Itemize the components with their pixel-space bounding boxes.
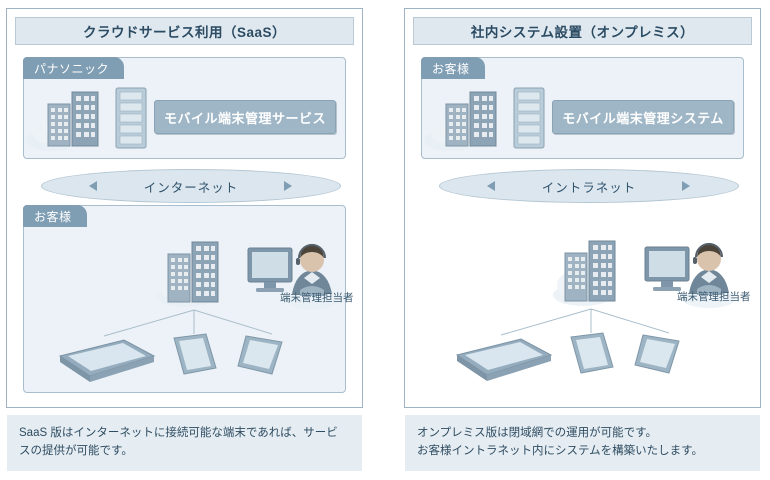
building-icon <box>168 254 190 302</box>
group-customer-onpremise-label: お客様 <box>432 60 470 77</box>
building-icon <box>446 104 468 146</box>
arrow-left-icon <box>487 181 495 191</box>
onpremise-service-bar: モバイル端末管理システム <box>552 100 734 134</box>
group-customer-saas: お客様 <box>23 205 346 393</box>
group-panasonic-label: パナソニック <box>34 60 109 77</box>
building-icon <box>48 104 70 146</box>
note-saas-line-2: スの提供が可能です。 <box>19 442 350 460</box>
tablet-device-icon <box>60 340 154 382</box>
arrow-right-icon <box>284 181 292 191</box>
note-onpremise: オンプレミス版は閉域網での運用が可能です。 お客様イントラネット内にシステムを構… <box>404 414 761 472</box>
panel-saas-header: クラウドサービス利用（SaaS） <box>15 17 354 45</box>
desktop-monitor-icon <box>248 248 292 292</box>
onpremise-service-bar-label: モバイル端末管理システム <box>562 108 724 127</box>
panel-saas: クラウドサービス利用（SaaS） パナソニック <box>6 8 363 408</box>
building-icon <box>192 242 218 302</box>
smartphone-device-icon <box>174 334 216 374</box>
onpremise-operator-caption: 端末管理担当者 <box>677 289 751 304</box>
saas-service-bar: モバイル端末管理サービス <box>154 100 336 134</box>
onpremise-datacenter-graphic <box>428 86 568 156</box>
saas-devices <box>50 326 330 386</box>
building-icon <box>565 253 587 301</box>
saas-service-bar-label: モバイル端末管理サービス <box>164 108 326 127</box>
panel-saas-header-label: クラウドサービス利用（SaaS） <box>83 21 286 41</box>
building-icon <box>470 92 496 146</box>
arrow-left-icon <box>89 181 97 191</box>
saas-network-label: インターネット <box>41 169 341 203</box>
smartphone-device-icon <box>635 335 679 373</box>
smartphone-device-icon <box>238 336 282 374</box>
arrow-right-icon <box>682 181 690 191</box>
server-rack-icon <box>116 88 146 148</box>
panel-onpremise: 社内システム設置（オンプレミス） お客様 <box>404 8 761 408</box>
group-customer-onpremise: お客様 <box>421 57 744 159</box>
saas-datacenter-graphic <box>30 86 170 156</box>
tablet-device-icon <box>457 339 551 381</box>
server-rack-icon <box>514 88 544 148</box>
smartphone-device-icon <box>571 333 613 373</box>
diagram-canvas: クラウドサービス利用（SaaS） パナソニック <box>0 0 770 480</box>
group-customer-onpremise-tab: お客様 <box>421 57 485 79</box>
saas-network: インターネット <box>41 169 341 203</box>
onpremise-network-label: イントラネット <box>439 169 739 203</box>
saas-operator-caption: 端末管理担当者 <box>280 290 354 305</box>
group-customer-saas-label: お客様 <box>34 208 72 225</box>
building-icon <box>72 92 98 146</box>
desktop-monitor-icon <box>645 247 689 291</box>
panel-onpremise-header: 社内システム設置（オンプレミス） <box>413 17 752 45</box>
note-saas-line-1: SaaS 版はインターネットに接続可能な端末であれば、サービ <box>19 424 350 442</box>
note-onpremise-line-1: オンプレミス版は閉域網での運用が可能です。 <box>417 424 748 442</box>
note-saas: SaaS 版はインターネットに接続可能な端末であれば、サービ スの提供が可能です… <box>6 414 363 472</box>
onpremise-devices <box>447 325 727 385</box>
onpremise-customer-area: 端末管理担当者 <box>421 205 744 393</box>
note-onpremise-line-2: お客様イントラネット内にシステムを構築いたします。 <box>417 442 748 460</box>
panel-onpremise-header-label: 社内システム設置（オンプレミス） <box>471 21 694 41</box>
building-icon <box>589 241 615 301</box>
group-customer-saas-tab: お客様 <box>23 205 87 227</box>
group-panasonic: パナソニック <box>23 57 346 159</box>
group-panasonic-tab: パナソニック <box>23 57 124 79</box>
onpremise-network: イントラネット <box>439 169 739 203</box>
